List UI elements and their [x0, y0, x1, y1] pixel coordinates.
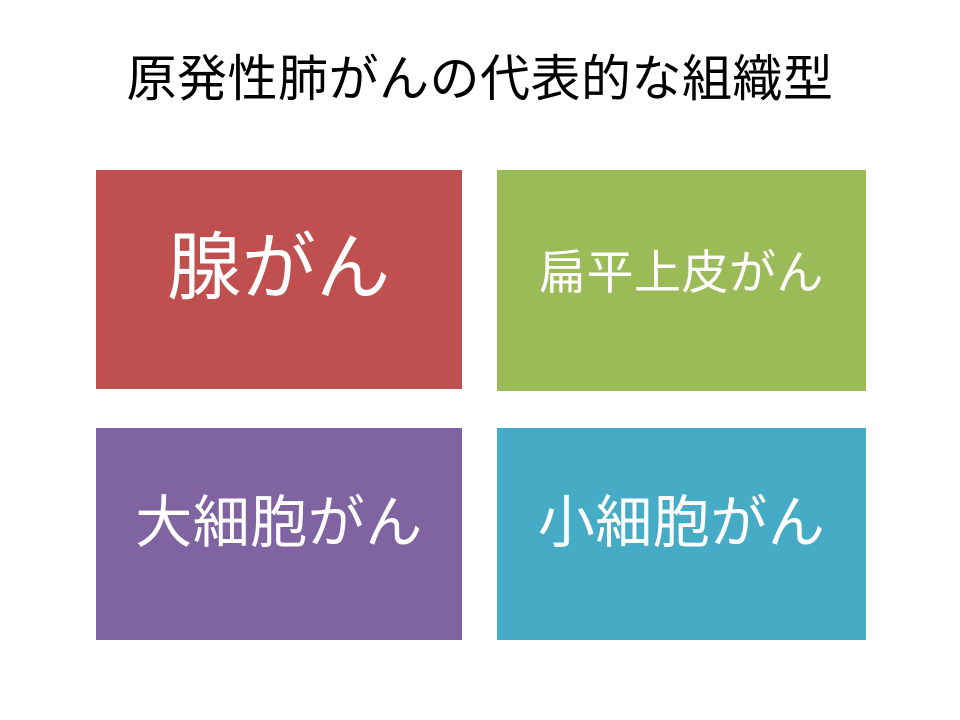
histology-card-label: 扁平上皮がん — [539, 247, 824, 299]
histology-card-label: 小細胞がん — [538, 492, 826, 555]
histology-card-small-cell-carcinoma[interactable]: 小細胞がん — [497, 428, 866, 640]
histology-card-label: 腺がん — [167, 227, 391, 308]
histology-card-squamous-cell-carcinoma[interactable]: 扁平上皮がん — [497, 170, 866, 391]
slide-canvas: 原発性肺がんの代表的な組織型 腺がん 扁平上皮がん 大細胞がん 小細胞がん — [0, 0, 960, 720]
histology-card-adenocarcinoma[interactable]: 腺がん — [96, 170, 462, 389]
histology-card-label: 大細胞がん — [135, 492, 423, 555]
page-title: 原発性肺がんの代表的な組織型 — [0, 48, 960, 110]
histology-card-large-cell-carcinoma[interactable]: 大細胞がん — [96, 428, 462, 640]
